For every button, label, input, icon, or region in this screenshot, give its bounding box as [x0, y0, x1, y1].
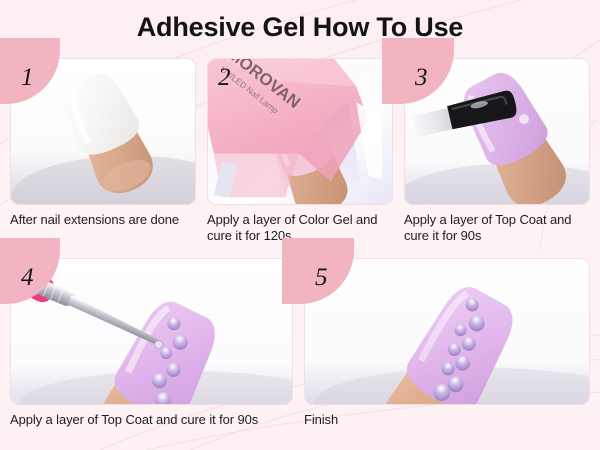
step-photo-4: [10, 258, 293, 405]
finished-nail-illustration: [305, 259, 589, 404]
step-photo-1: [10, 58, 196, 205]
steps-grid: 1 After nail extensions are done: [10, 58, 590, 428]
step-card-2[interactable]: MOROVAN UV/LED Nail Lamp 2 Apply a layer…: [207, 58, 393, 243]
step-card-4[interactable]: 4 Apply a layer of Top Coat and cure it …: [10, 258, 293, 428]
step-photo-5: [304, 258, 590, 405]
rhinestone-application-illustration: [11, 259, 292, 404]
step-card-1[interactable]: 1 After nail extensions are done: [10, 58, 196, 243]
step-caption-5: Finish: [304, 412, 590, 428]
step-photo-2: MOROVAN UV/LED Nail Lamp: [207, 58, 393, 205]
steps-row-2: 4 Apply a layer of Top Coat and cure it …: [10, 258, 590, 428]
step-card-3[interactable]: 3 Apply a layer of Top Coat and cure it …: [404, 58, 590, 243]
step-card-5[interactable]: 5 Finish: [304, 258, 590, 428]
step-caption-1: After nail extensions are done: [10, 212, 196, 228]
step-caption-2: Apply a layer of Color Gel and cure it f…: [207, 212, 393, 243]
top-coat-brush-illustration: [405, 59, 589, 204]
step-caption-4: Apply a layer of Top Coat and cure it fo…: [10, 412, 293, 428]
steps-row-1: 1 After nail extensions are done: [10, 58, 590, 243]
nail-extension-illustration: [11, 59, 195, 204]
step-caption-3: Apply a layer of Top Coat and cure it fo…: [404, 212, 590, 243]
uv-lamp-illustration: MOROVAN UV/LED Nail Lamp: [208, 59, 392, 204]
page-title: Adhesive Gel How To Use: [0, 10, 600, 44]
step-photo-3: [404, 58, 590, 205]
